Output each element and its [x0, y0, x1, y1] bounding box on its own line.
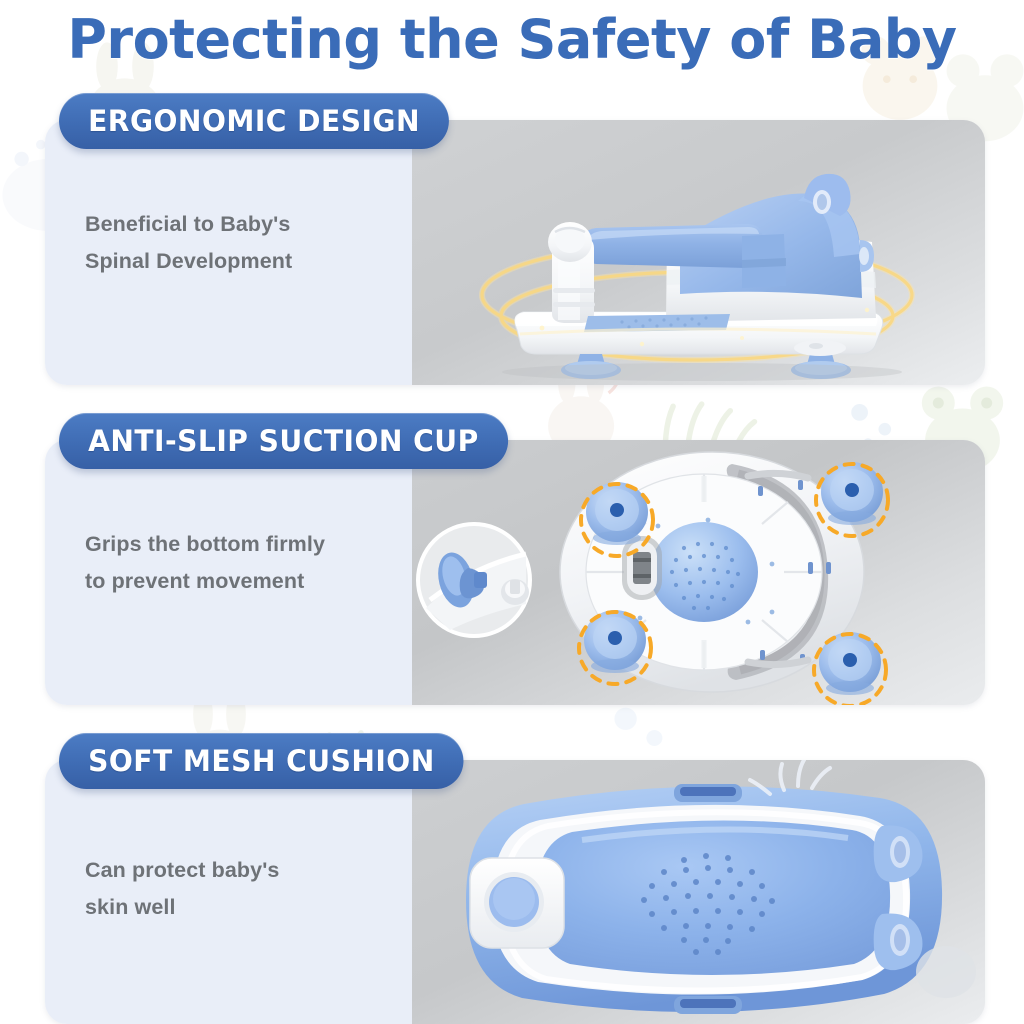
- bath-seat-underside-suction-cups-photo: [412, 440, 985, 705]
- feature-body-text: Can protect baby's skin well: [85, 852, 385, 926]
- body-line: Spinal Development: [85, 243, 385, 280]
- bath-seat-illustration: [412, 120, 985, 385]
- feature-text-area: Grips the bottom firmly to prevent movem…: [45, 440, 412, 705]
- mesh-cushion-illustration: [412, 760, 985, 1024]
- feature-body-text: Beneficial to Baby's Spinal Development: [85, 206, 385, 280]
- page-title: Protecting the Safety of Baby: [0, 8, 1024, 71]
- soft-mesh-cushion-topdown-photo: [412, 760, 985, 1024]
- feature-body-text: Grips the bottom firmly to prevent movem…: [85, 526, 385, 600]
- feature-panel-soft-mesh-cushion: Can protect baby's skin well: [45, 760, 985, 1024]
- body-line: skin well: [85, 889, 385, 926]
- suction-cup-closeup-inset: [418, 524, 530, 636]
- feature-badge-ergonomic-design[interactable]: ERGONOMIC DESIGN: [59, 93, 449, 149]
- feature-badge-soft-mesh-cushion[interactable]: SOFT MESH CUSHION: [59, 733, 464, 789]
- feature-panel-anti-slip-suction-cup: Grips the bottom firmly to prevent movem…: [45, 440, 985, 705]
- side-latch-button: [470, 858, 564, 948]
- body-line: Beneficial to Baby's: [85, 206, 385, 243]
- feature-panel-ergonomic-design: Beneficial to Baby's Spinal Development: [45, 120, 985, 385]
- feature-text-area: Can protect baby's skin well: [45, 760, 412, 1024]
- baby-bath-seat-side-view-photo: [412, 120, 985, 385]
- body-line: Can protect baby's: [85, 852, 385, 889]
- body-line: Grips the bottom firmly: [85, 526, 385, 563]
- bath-seat-underside-illustration: [412, 440, 985, 705]
- feature-text-area: Beneficial to Baby's Spinal Development: [45, 120, 412, 385]
- feature-badge-anti-slip-suction-cup[interactable]: ANTI-SLIP SUCTION CUP: [59, 413, 508, 469]
- body-line: to prevent movement: [85, 563, 385, 600]
